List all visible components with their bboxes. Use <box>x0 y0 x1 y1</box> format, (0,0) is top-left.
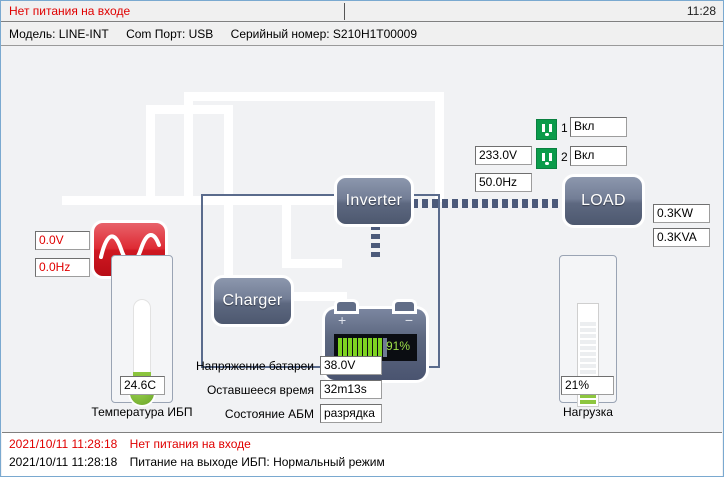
load-block[interactable]: LOAD <box>565 177 642 225</box>
path-inverter-to-load <box>412 199 567 208</box>
outlet-state-field-1[interactable]: Вкл <box>570 117 627 137</box>
log-message: Питание на выходе ИБП: Нормальный режим <box>130 455 385 469</box>
log-entry-0: 2021/10/11 11:28:18 Нет питания на входе <box>9 437 251 451</box>
comport-label: Com Порт: USB <box>126 27 213 41</box>
load-caption: Нагрузка <box>528 405 648 419</box>
output-power-kw-field: 0.3KW <box>653 204 710 223</box>
battery-voltage-field: 38.0V <box>320 356 382 375</box>
output-power-kva-field: 0.3KVA <box>653 228 710 247</box>
path-bypass-right <box>435 92 444 202</box>
outlet-number-1: 1 <box>561 121 568 135</box>
event-log-panel[interactable]: 2021/10/11 11:28:18 Нет питания на входе… <box>2 432 722 476</box>
remaining-time-label: Оставшееся время <box>152 383 314 397</box>
output-voltage-field: 233.0V <box>475 146 532 165</box>
battery-bar <box>373 338 377 357</box>
battery-minus-sign: − <box>405 315 413 325</box>
remaining-time-field: 32m13s <box>320 380 382 399</box>
log-timestamp: 2021/10/11 11:28:18 <box>9 455 117 469</box>
load-gauge-segment <box>580 370 596 374</box>
serial-label: Серийный номер: S210H1T00009 <box>231 27 417 41</box>
battery-bar <box>338 338 342 357</box>
path-inverter-to-battery <box>371 225 380 258</box>
battery-bar <box>358 338 362 357</box>
outlet-state-field-2[interactable]: Вкл <box>570 146 627 166</box>
load-gauge-segment <box>580 346 596 350</box>
charger-block[interactable]: Charger <box>214 278 291 324</box>
status-bar: Нет питания на входе 11:28 <box>1 1 723 22</box>
ups-flow-diagram: 0.0V 0.0Hz Inverter Charger LOAD + − <box>2 47 722 431</box>
path-input-top <box>146 105 232 114</box>
battery-level-bars <box>338 338 387 357</box>
status-bar-divider <box>344 3 345 20</box>
battery-voltage-label: Напряжение батареи <box>152 359 314 373</box>
power-outlet-icon-1[interactable] <box>536 119 557 140</box>
outlet-number-2: 2 <box>561 150 568 164</box>
inverter-block[interactable]: Inverter <box>337 178 411 224</box>
load-gauge-segment <box>580 334 596 338</box>
battery-bar <box>353 338 357 357</box>
battery-plus-sign: + <box>338 315 346 325</box>
load-gauge-segment <box>580 322 596 326</box>
load-gauge-segment <box>580 352 596 356</box>
battery-bar <box>348 338 352 357</box>
path-inner-riser <box>224 105 233 195</box>
clock-label: 11:28 <box>687 4 716 18</box>
abm-state-label: Состояние АБМ <box>152 407 314 421</box>
model-label: Модель: LINE-INT <box>9 27 109 41</box>
log-entry-1: 2021/10/11 11:28:18 Питание на выходе ИБ… <box>9 455 385 469</box>
load-gauge-segment <box>580 340 596 344</box>
log-message: Нет питания на входе <box>130 437 251 451</box>
abm-state-field: разрядка <box>320 404 382 423</box>
load-gauge-segment <box>580 364 596 368</box>
load-gauge-segment <box>580 358 596 362</box>
alarm-status-text: Нет питания на входе <box>9 4 130 18</box>
load-value-field: 21% <box>561 376 614 395</box>
device-info-text: Модель: LINE-INT Com Порт: USB Серийный … <box>9 27 431 41</box>
ups-monitor-window: Нет питания на входе 11:28 Модель: LINE-… <box>0 0 724 477</box>
output-frequency-field: 50.0Hz <box>475 173 532 192</box>
load-gauge-segment <box>580 400 596 404</box>
path-bypass-top <box>184 92 444 101</box>
battery-bar <box>343 338 347 357</box>
battery-bar <box>363 338 367 357</box>
load-gauge-segment <box>580 328 596 332</box>
battery-percent-label: 91% <box>386 339 410 353</box>
battery-bar <box>368 338 372 357</box>
input-frequency-field: 0.0Hz <box>35 258 90 277</box>
battery-terminal-negative <box>395 302 414 311</box>
input-voltage-field: 0.0V <box>35 231 90 250</box>
path-input-riser <box>146 105 155 202</box>
device-info-bar: Модель: LINE-INT Com Порт: USB Серийный … <box>1 23 723 46</box>
log-timestamp: 2021/10/11 11:28:18 <box>9 437 117 451</box>
battery-terminal-positive <box>337 302 356 311</box>
battery-bar <box>378 338 382 357</box>
power-outlet-icon-2[interactable] <box>536 148 557 169</box>
